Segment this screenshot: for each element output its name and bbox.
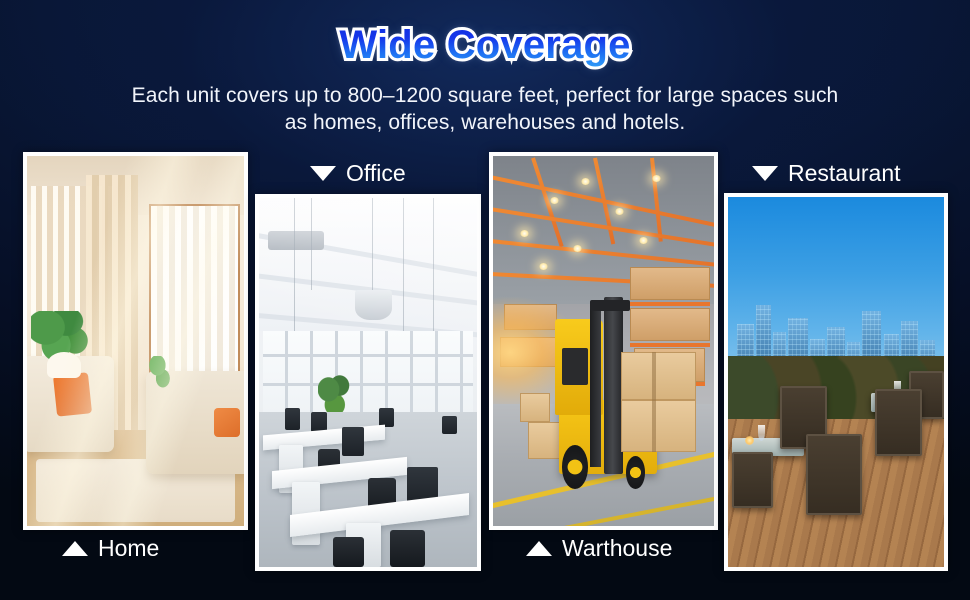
warehouse-highbay-light: [615, 208, 624, 215]
panel-restaurant: [724, 193, 948, 571]
label-home-text: Home: [98, 535, 159, 561]
warehouse-photo: [493, 156, 714, 526]
subtitle-line-1: Each unit covers up to 800–1200 square f…: [35, 82, 935, 109]
panel-warehouse: [489, 152, 718, 530]
forklift-wheel: [562, 445, 589, 489]
forklift-seat: [562, 348, 589, 385]
warehouse-carton-strap: [652, 400, 656, 452]
office-photo: [259, 198, 477, 567]
warehouse-rack-beam: [630, 343, 710, 347]
triangle-up-icon: [526, 541, 552, 556]
restaurant-chair: [732, 452, 773, 508]
label-office-text: Office: [346, 160, 406, 186]
title-fill-layer: Wide Coverage: [339, 23, 630, 67]
warehouse-carton: [621, 400, 696, 452]
label-warehouse: Warthouse: [526, 535, 672, 561]
warehouse-pallet-rack: [630, 267, 710, 300]
title-text: Wide Coverage Wide Coverage: [339, 22, 630, 68]
restaurant-photo: [728, 197, 944, 567]
panel-home: [23, 152, 248, 530]
label-warehouse-text: Warthouse: [562, 535, 672, 561]
warehouse-carton: [520, 393, 551, 423]
banner-header: Wide Coverage Wide Coverage Each unit co…: [0, 0, 970, 136]
label-home: Home: [62, 535, 159, 561]
triangle-down-icon: [752, 166, 778, 181]
warehouse-highbay-light: [520, 230, 529, 237]
wide-coverage-banner: Wide Coverage Wide Coverage Each unit co…: [0, 0, 970, 600]
panel-office: [255, 194, 481, 571]
triangle-down-icon: [310, 166, 336, 181]
restaurant-chair: [806, 434, 862, 515]
label-office: Office: [310, 160, 406, 186]
subtitle: Each unit covers up to 800–1200 square f…: [35, 82, 935, 136]
home-sunlight: [27, 156, 244, 526]
office-daylight: [259, 198, 477, 567]
warehouse-carton-strap: [652, 352, 656, 400]
warehouse-rack-beam: [630, 302, 710, 306]
home-photo: [27, 156, 244, 526]
restaurant-chair: [875, 389, 923, 456]
label-restaurant-text: Restaurant: [788, 160, 901, 186]
page-title: Wide Coverage Wide Coverage: [0, 22, 970, 78]
subtitle-line-2: as homes, offices, warehouses and hotels…: [35, 109, 935, 136]
label-restaurant: Restaurant: [752, 160, 901, 186]
warehouse-carton: [621, 352, 696, 400]
triangle-up-icon: [62, 541, 88, 556]
warehouse-highbay-light: [652, 175, 661, 182]
warehouse-highbay-light: [573, 245, 582, 252]
forklift-mast: [590, 304, 601, 467]
warehouse-pallet-rack: [630, 308, 710, 341]
forklift-mast-top: [590, 300, 630, 311]
